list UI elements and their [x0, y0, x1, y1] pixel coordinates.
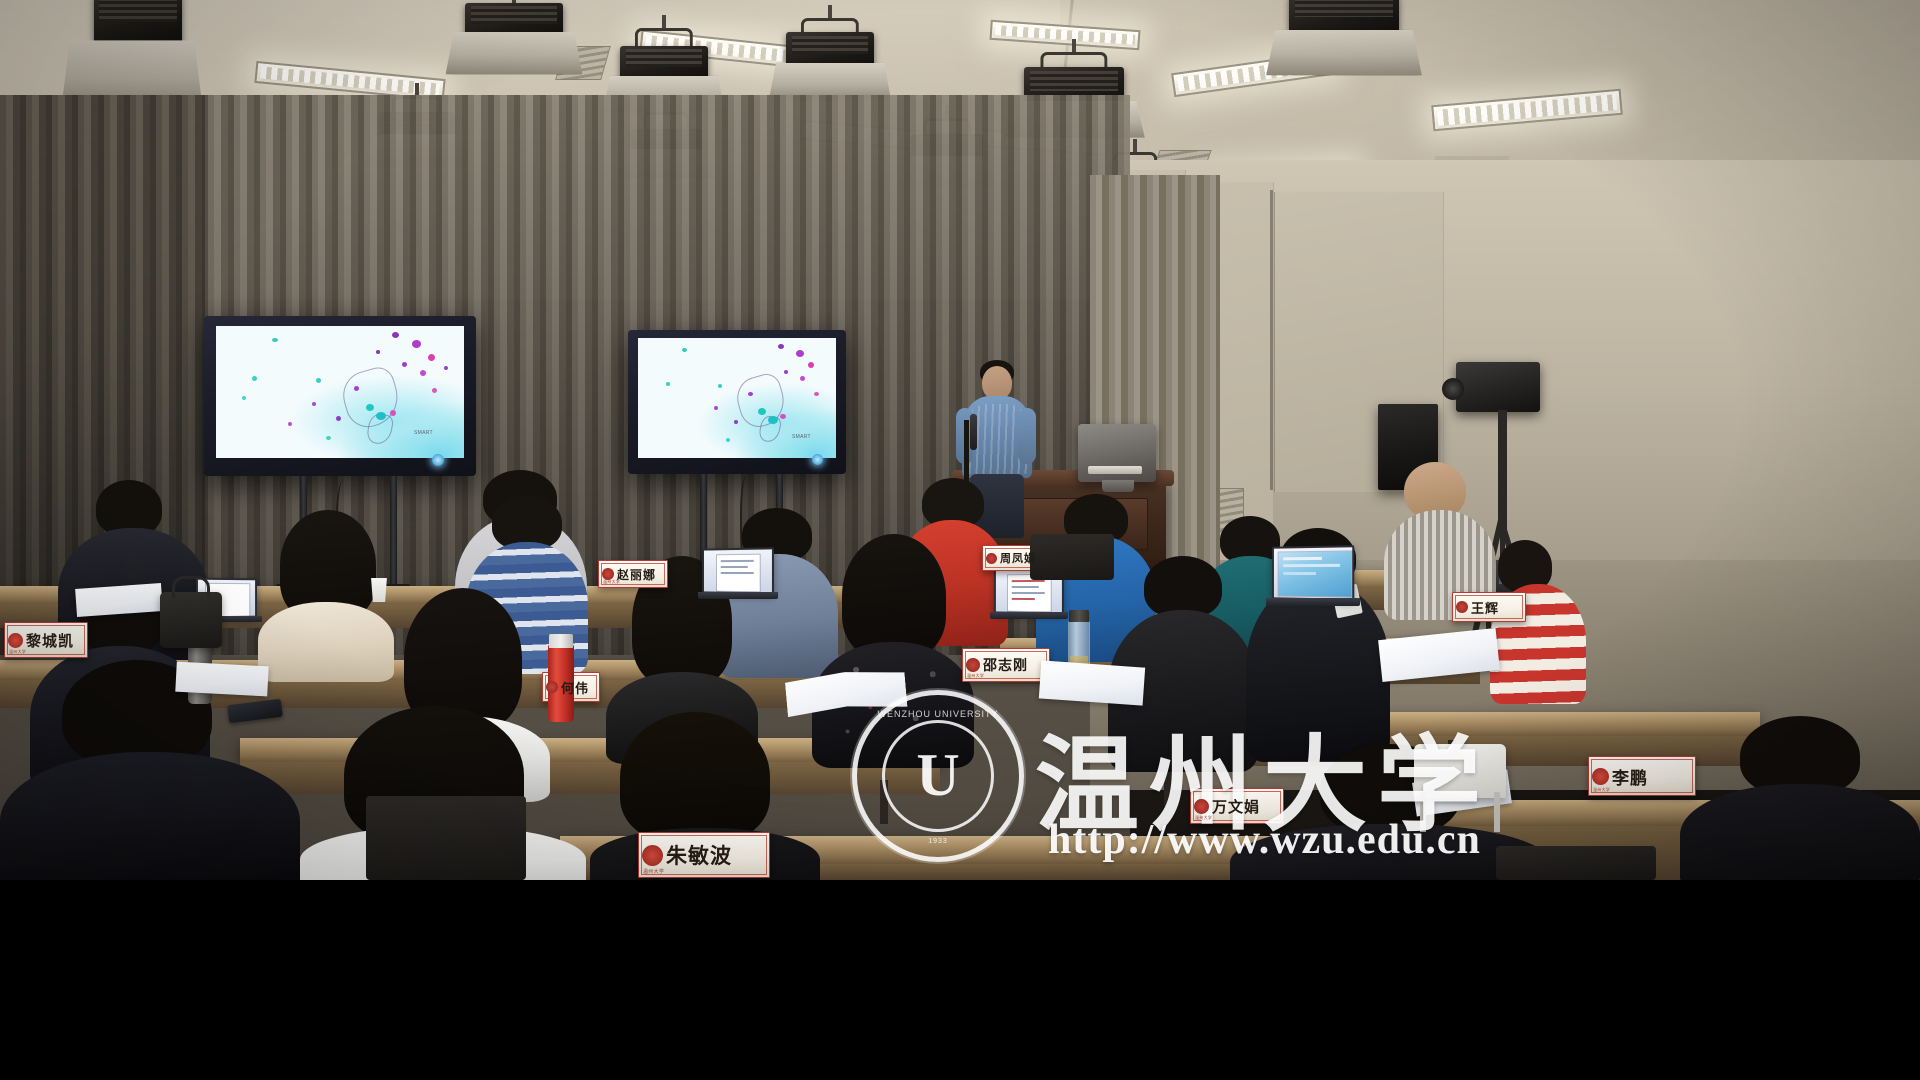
university-seal-icon	[546, 681, 558, 693]
laptop-2-base	[990, 612, 1068, 619]
placard-university-label: 温州大学	[9, 649, 26, 655]
name-placard: 李鹏 温州大学	[1588, 756, 1696, 796]
handbag-handle	[172, 576, 210, 598]
map-point	[808, 362, 814, 368]
dark-clothing	[1680, 784, 1920, 890]
map-point	[420, 370, 426, 376]
map-point	[734, 420, 738, 424]
laptop-ui-line	[1283, 557, 1322, 560]
audience-member	[1680, 716, 1920, 886]
map-point	[402, 362, 407, 367]
conference-chair	[1030, 534, 1114, 580]
handheld-microphone[interactable]	[970, 414, 977, 450]
map-point	[242, 396, 246, 400]
long-hair	[620, 712, 770, 842]
university-seal-icon	[8, 633, 23, 648]
black-suit	[1246, 580, 1390, 762]
map-point	[748, 392, 753, 396]
name-placard: 赵丽娜 温州大学	[598, 560, 668, 588]
white-chair-leg	[1420, 792, 1426, 832]
open-document	[75, 583, 163, 617]
letterbox-bottom	[0, 880, 1920, 1080]
handbag	[160, 592, 222, 648]
university-seal-icon	[986, 553, 997, 564]
map-point	[354, 386, 359, 391]
map-point	[432, 388, 437, 393]
university-seal-icon	[1592, 768, 1609, 785]
map-point	[376, 412, 386, 420]
presenter-head	[982, 366, 1012, 400]
map-point	[800, 376, 805, 381]
map-point	[780, 414, 786, 419]
map-point	[272, 338, 278, 342]
university-seal-icon	[966, 658, 980, 672]
university-seal-icon	[1194, 799, 1209, 814]
university-seal-icon	[642, 845, 663, 866]
university-seal-icon	[1456, 601, 1468, 613]
keyboard[interactable]	[1088, 466, 1142, 474]
placard-name-text: 李鹏	[1612, 764, 1648, 789]
laptop-ui-line	[1283, 564, 1340, 567]
name-placard: 朱敏波 温州大学	[638, 832, 770, 878]
map-point	[726, 438, 730, 442]
name-placard: 万文娟 温州大学	[1190, 788, 1284, 824]
map-point	[336, 416, 341, 421]
map-point	[288, 422, 292, 426]
map-point	[390, 410, 396, 416]
placard-name-text: 万文娟	[1212, 796, 1260, 817]
conference-chair	[366, 796, 526, 880]
map-point	[718, 384, 722, 388]
laptop-ui-line	[1283, 572, 1316, 575]
placard-university-label: 温州大学	[1195, 815, 1212, 821]
name-placard: 黎城凯 温州大学	[4, 622, 88, 658]
placard-university-label: 温州大学	[1593, 787, 1610, 793]
map-point	[814, 392, 819, 396]
video-camera	[1456, 362, 1540, 412]
open-document	[175, 662, 268, 697]
placard-name-text: 黎城凯	[26, 630, 74, 651]
conference-chair	[1496, 846, 1656, 880]
table-leg	[880, 780, 888, 824]
laptop-1[interactable]	[702, 547, 774, 594]
dark-suit	[0, 752, 300, 896]
display-osd-label-right: SMART	[792, 434, 811, 440]
laptop-text-line	[1012, 586, 1039, 588]
map-point	[714, 406, 718, 410]
right-presentation-display[interactable]: SMART	[628, 330, 846, 474]
right-display-power-led	[812, 454, 823, 465]
long-hair	[842, 534, 946, 658]
map-point	[784, 370, 788, 374]
laptop-text-line	[1012, 598, 1035, 600]
placard-university-label: 温州大学	[643, 868, 664, 875]
map-point	[682, 348, 687, 352]
laptop-text-line	[721, 560, 754, 562]
presenter-arm-right	[1018, 408, 1036, 464]
map-point	[392, 332, 399, 338]
right-display-screen: SMART	[638, 338, 836, 458]
map-point	[376, 350, 380, 354]
lecture-hall-photo: SMART SMART	[0, 0, 1920, 1080]
left-display-power-led	[432, 454, 444, 466]
placard-name-text: 王辉	[1471, 598, 1499, 617]
map-point	[428, 354, 435, 361]
map-point	[412, 340, 421, 348]
placard-name-text: 周凤娟	[1000, 550, 1036, 566]
white-chair-leg	[1494, 792, 1500, 832]
map-point	[252, 376, 257, 381]
map-point	[778, 344, 784, 349]
left-display-screen: SMART	[216, 326, 464, 458]
wall-panel-seam-2	[1270, 190, 1273, 490]
name-placard: 邵志刚 温州大学	[962, 648, 1050, 682]
laptop-text-line	[721, 566, 748, 568]
laptop-3[interactable]	[1272, 545, 1354, 601]
map-point	[758, 408, 766, 415]
map-point	[796, 350, 804, 357]
laptop-text-line	[721, 572, 754, 574]
bottle-cap	[549, 634, 573, 648]
placard-name-text: 朱敏波	[666, 840, 732, 870]
bottle-cap	[1069, 610, 1089, 622]
placard-name-text: 何伟	[561, 678, 589, 697]
paper-cup	[370, 578, 388, 602]
laptop-text-line	[1012, 580, 1045, 582]
stage-spotlight-9	[1278, 0, 1410, 74]
open-document	[1039, 660, 1145, 705]
stage-spotlight-6	[778, 18, 882, 98]
laptop-3-base	[1266, 598, 1360, 606]
laptop-text-line	[1012, 592, 1045, 594]
audience-member	[1108, 556, 1258, 768]
placard-name-text: 赵丽娜	[617, 566, 656, 583]
laptop-1-base	[698, 592, 778, 599]
placard-name-text: 邵志刚	[983, 655, 1028, 675]
map-point	[666, 382, 670, 386]
computer-stand	[1102, 480, 1134, 492]
left-presentation-display[interactable]: SMART	[204, 316, 476, 476]
map-point	[316, 378, 321, 383]
tripod-column	[1498, 410, 1507, 530]
placard-university-label: 温州大学	[967, 673, 984, 679]
map-point	[326, 436, 331, 440]
camera-lens	[1442, 378, 1464, 400]
display-osd-label: SMART	[414, 430, 433, 436]
white-folding-chair	[1414, 744, 1506, 798]
stage-spotlight-2	[456, 0, 572, 76]
placard-university-label: 温州大学	[603, 579, 620, 585]
map-point	[444, 366, 448, 370]
map-point	[366, 404, 374, 411]
audience-member	[812, 534, 974, 764]
map-point	[768, 416, 778, 424]
map-point	[312, 402, 316, 406]
name-placard: 王辉	[1452, 592, 1526, 622]
hair	[1144, 556, 1222, 618]
